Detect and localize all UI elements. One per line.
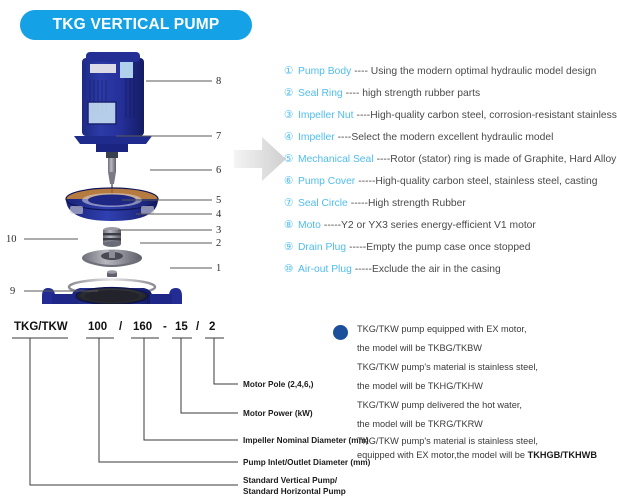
legend-part-name: Seal Ring [298,88,343,99]
note-line: the model will be TKRG/TKRW [357,415,617,434]
note-line: TKG/TKW pump's material is stainless ste… [357,434,617,448]
callout-number-10: 10 [6,234,17,245]
legend-description: ----Select the modern excellent hydrauli… [338,132,554,143]
legend-number: ⑨ [284,242,298,253]
model-label-standard-pump-1: Standard Vertical Pump/ [243,475,337,486]
note-final-model: TKHGB/TKHWB [528,450,597,460]
page-title: TKG VERTICAL PUMP [53,16,220,34]
legend-description: -----Empty the pump case once stopped [349,242,530,253]
legend-part-name: Impeller Nut [298,110,354,121]
legend-number: ④ [284,132,298,143]
callout-number-3: 3 [216,225,221,236]
callout-number-9: 9 [10,286,15,297]
legend-number: ① [284,66,298,77]
legend-item: ⑤ Mechanical Seal ----Rotor (stator) rin… [284,148,617,170]
model-label-motor-pole: Motor Pole (2,4,6,) [243,379,314,390]
model-label-motor-power: Motor Power (kW) [243,408,313,419]
legend-part-name: Moto [298,220,321,231]
model-variant-notes: TKG/TKW pump equipped with EX motor, the… [333,320,617,462]
legend-item: ② Seal Ring ---- high strength rubber pa… [284,82,617,104]
exploded-pump-diagram: 8 7 6 5 4 3 2 1 10 9 [0,44,270,304]
callout-number-6: 6 [216,165,221,176]
legend-number: ③ [284,110,298,121]
legend-number: ⑩ [284,264,298,275]
legend-part-name: Air-out Plug [298,264,352,275]
legend-number: ② [284,88,298,99]
legend-description: -----Y2 or YX3 series energy-efficient V… [324,220,536,231]
callout-number-1: 1 [216,263,221,274]
legend-description: ---- Using the modern optimal hydraulic … [354,66,596,77]
note-line: TKG/TKW pump's material is stainless ste… [357,358,617,377]
legend-description: -----High strength Rubber [351,198,466,209]
legend-item: ⑨ Drain Plug -----Empty the pump case on… [284,236,617,258]
callout-number-2: 2 [216,238,221,249]
model-label-standard-pump-2: Standard Horizontal Pump [243,486,346,497]
model-code-diagram: TKG/TKW 100 / 160 - 15 / 2 Motor Pole (2… [0,305,340,500]
legend-part-name: Pump Body [298,66,351,77]
note-line: the model will be TKHG/TKHW [357,377,617,396]
note-line-final: equipped with EX motor,the model will be… [357,448,617,462]
legend-part-name: Pump Cover [298,176,355,187]
legend-number: ⑦ [284,198,298,209]
motor-part [74,52,152,152]
legend-item: ⑩ Air-out Plug -----Exclude the air in t… [284,258,617,280]
legend-description: ---- high strength rubber parts [346,88,481,99]
pump-body-part [42,288,182,305]
note-line: TKG/TKW pump equipped with EX motor, [357,320,617,339]
impeller-nut-part [107,270,117,277]
legend-number: ⑥ [284,176,298,187]
legend-item: ④ Impeller ----Select the modern excelle… [284,126,617,148]
legend-description: -----High-quality carbon steel, stainles… [358,176,597,187]
legend-number: ⑤ [284,154,298,165]
legend-part-name: Drain Plug [298,242,346,253]
impeller-part [82,250,142,268]
legend-item: ⑦ Seal Circle -----High strength Rubber [284,192,617,214]
legend-item: ⑧ Moto -----Y2 or YX3 series energy-effi… [284,214,617,236]
callout-number-4: 4 [216,209,222,220]
legend-item: ① Pump Body ---- Using the modern optima… [284,60,617,82]
pump-cover-part [66,188,158,221]
note-line: the model will be TKBG/TKBW [357,339,617,358]
legend-item: ③ Impeller Nut ----High-quality carbon s… [284,104,617,126]
legend-description: -----Exclude the air in the casing [355,264,501,275]
legend-description: ----Rotor (stator) ring is made of Graph… [377,154,617,165]
legend-part-name: Mechanical Seal [298,154,374,165]
note-line: TKG/TKW pump delivered the hot water, [357,396,617,415]
flow-arrow-icon [232,133,288,185]
legend-part-name: Impeller [298,132,335,143]
page-title-banner: TKG VERTICAL PUMP [20,10,252,40]
legend-number: ⑧ [284,220,298,231]
callout-number-7: 7 [216,131,221,142]
bullet-dot-icon [333,325,348,340]
legend-item: ⑥ Pump Cover -----High-quality carbon st… [284,170,617,192]
callout-number-5: 5 [216,195,221,206]
legend-part-name: Seal Circle [298,198,348,209]
legend-description: ----High-quality carbon steel, corrosion… [357,110,617,121]
parts-legend-list: ① Pump Body ---- Using the modern optima… [284,60,617,280]
note-final-prefix: equipped with EX motor,the model will be [357,450,528,460]
callout-number-8: 8 [216,76,221,87]
